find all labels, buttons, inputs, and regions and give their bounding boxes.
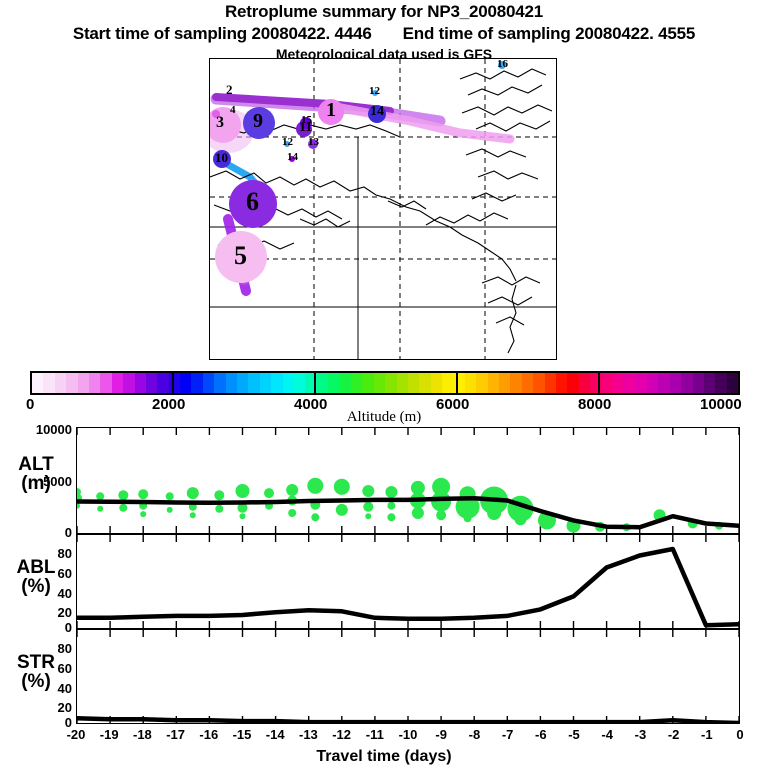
alt-bubble-12 — [187, 487, 199, 499]
colorbar-segment-45 — [545, 373, 556, 393]
colorbar-segment-61 — [727, 373, 738, 393]
alt-ytick-5000: 5000 — [12, 474, 72, 489]
colorbar-segment-10 — [146, 373, 157, 393]
alt-bubble-24 — [288, 509, 296, 517]
alt-bubble-6 — [119, 504, 127, 512]
alt-ytick-0: 0 — [12, 525, 72, 540]
x-tick--12: -12 — [327, 727, 357, 742]
altitude-colorbar[interactable] — [30, 371, 740, 395]
colorbar-segment-40 — [488, 373, 499, 393]
colorbar-segment-39 — [476, 373, 487, 393]
colorbar-segment-31 — [385, 373, 396, 393]
x-tick--1: -1 — [692, 727, 722, 742]
abl-ytick-0: 0 — [12, 620, 72, 635]
map-marker-label-4: 4 — [230, 105, 236, 116]
alt-bubble-31 — [363, 502, 373, 512]
alt-bubble-44 — [464, 514, 472, 522]
alt-bubble-27 — [311, 513, 319, 521]
colorbar-segment-29 — [362, 373, 373, 393]
alt-bubble-19 — [240, 513, 246, 519]
colorbar-segment-8 — [123, 373, 134, 393]
colorbar-segment-13 — [180, 373, 191, 393]
abl-panel[interactable] — [76, 534, 740, 629]
colorbar-segment-4 — [78, 373, 89, 393]
colorbar-segment-17 — [226, 373, 237, 393]
abl-ytick-20: 20 — [12, 605, 72, 620]
map-marker-label-3: 3 — [216, 115, 224, 131]
colorbar-segment-9 — [135, 373, 146, 393]
colorbar-segment-25 — [317, 373, 328, 393]
alt-bubble-40 — [431, 492, 451, 512]
str-panel[interactable] — [76, 629, 740, 724]
map-marker-label-14b: 14 — [370, 105, 384, 119]
colorbar-segment-33 — [408, 373, 419, 393]
colorbar-segment-38 — [465, 373, 476, 393]
colorbar-segment-54 — [647, 373, 658, 393]
alt-bubble-30 — [362, 485, 374, 497]
colorbar-segment-27 — [340, 373, 351, 393]
colorbar-segment-26 — [328, 373, 339, 393]
x-tick-0: 0 — [725, 727, 755, 742]
str-ytick-40: 40 — [12, 681, 72, 696]
alt-bubble-25 — [307, 478, 323, 494]
colorbar-segment-19 — [248, 373, 259, 393]
colorbar-segment-52 — [624, 373, 635, 393]
map-marker-label-2: 2 — [226, 83, 233, 96]
map-marker-label-5: 5 — [234, 243, 247, 269]
colorbar-axis-label: Altitude (m) — [0, 409, 768, 426]
x-tick--16: -16 — [194, 727, 224, 742]
x-tick--4: -4 — [592, 727, 622, 742]
x-tick--7: -7 — [493, 727, 523, 742]
colorbar-segment-44 — [533, 373, 544, 393]
alt-bubble-17 — [236, 484, 250, 498]
page-title: Retroplume summary for NP3_20080421 — [0, 2, 768, 22]
map-marker-label-14: 14 — [287, 152, 298, 163]
map-marker-group: 2 3 4 9 10 11 15 13 12 14 6 5 1 14 12 16 — [210, 59, 556, 359]
map-marker-label-10: 10 — [215, 151, 228, 164]
x-tick--19: -19 — [94, 727, 124, 742]
alt-bubble-11 — [167, 507, 173, 513]
abl-ytick-40: 40 — [12, 586, 72, 601]
str-tick-marks — [77, 630, 739, 723]
x-tick--9: -9 — [426, 727, 456, 742]
abl-trend-line — [77, 549, 739, 625]
alt-trend-line — [77, 498, 739, 527]
x-tick--10: -10 — [393, 727, 423, 742]
x-tick--6: -6 — [526, 727, 556, 742]
colorbar-segment-21 — [271, 373, 282, 393]
x-tick--14: -14 — [260, 727, 290, 742]
colorbar-divider — [598, 371, 600, 395]
colorbar-segment-0 — [32, 373, 43, 393]
colorbar-segment-1 — [43, 373, 54, 393]
str-ytick-80: 80 — [12, 641, 72, 656]
alt-bubble-33 — [385, 486, 397, 498]
alt-bubble-5 — [118, 490, 128, 500]
colorbar-segment-22 — [283, 373, 294, 393]
colorbar-segment-7 — [112, 373, 123, 393]
colorbar-segment-46 — [556, 373, 567, 393]
alt-bubble-32 — [365, 513, 371, 519]
colorbar-segment-57 — [681, 373, 692, 393]
colorbar-segment-34 — [419, 373, 430, 393]
colorbar-segment-59 — [704, 373, 715, 393]
colorbar-segment-53 — [636, 373, 647, 393]
alt-bubble-20 — [264, 488, 274, 498]
x-tick--8: -8 — [459, 727, 489, 742]
colorbar-segment-48 — [579, 373, 590, 393]
colorbar-segment-47 — [567, 373, 578, 393]
alt-bubble-16 — [215, 505, 223, 513]
alt-bubble-10 — [166, 492, 174, 500]
alt-panel[interactable] — [76, 427, 740, 534]
colorbar-segment-20 — [260, 373, 271, 393]
alt-bubble-4 — [97, 506, 103, 512]
end-time-label: End time of sampling 20080422. 4555 — [403, 24, 696, 43]
colorbar-segment-56 — [670, 373, 681, 393]
x-axis-title: Travel time (days) — [0, 748, 768, 766]
alt-plot — [77, 428, 739, 533]
colorbar-segment-12 — [169, 373, 180, 393]
alt-bubble-9 — [140, 511, 146, 517]
retroplume-map[interactable]: 2 3 4 9 10 11 15 13 12 14 6 5 1 14 12 16 — [209, 58, 557, 360]
colorbar-segment-35 — [431, 373, 442, 393]
colorbar-segment-60 — [715, 373, 726, 393]
colorbar-segment-50 — [602, 373, 613, 393]
map-marker-label-1: 1 — [326, 100, 336, 120]
colorbar-segment-15 — [203, 373, 214, 393]
alt-bubble-28 — [334, 479, 350, 495]
colorbar-segment-58 — [693, 373, 704, 393]
colorbar-segment-16 — [214, 373, 225, 393]
alt-ytick-10000: 10000 — [12, 422, 72, 437]
str-ytick-60: 60 — [12, 661, 72, 676]
alt-bubble-3 — [96, 492, 104, 500]
colorbar-segment-36 — [442, 373, 453, 393]
abl-plot — [77, 535, 739, 628]
x-tick--18: -18 — [127, 727, 157, 742]
alt-bubble-38 — [412, 507, 424, 519]
map-marker-label-12b: 12 — [369, 86, 380, 97]
alt-bubble-cloud — [77, 478, 723, 533]
x-tick--15: -15 — [227, 727, 257, 742]
colorbar-segment-30 — [374, 373, 385, 393]
alt-bubble-35 — [387, 513, 395, 521]
alt-bubble-34 — [387, 502, 395, 510]
colorbar-segment-42 — [510, 373, 521, 393]
sampling-time-row: Start time of sampling 20080422. 4446 En… — [0, 24, 768, 44]
map-marker-label-12: 12 — [282, 137, 293, 148]
colorbar-segment-55 — [658, 373, 669, 393]
colorbar-segment-5 — [89, 373, 100, 393]
colorbar-segment-41 — [499, 373, 510, 393]
x-tick--11: -11 — [360, 727, 390, 742]
colorbar-segment-11 — [157, 373, 168, 393]
map-marker-label-13: 13 — [308, 137, 319, 148]
colorbar-segment-14 — [191, 373, 202, 393]
colorbar-segment-18 — [237, 373, 248, 393]
alt-tick-marks — [77, 428, 739, 533]
alt-bubble-29 — [336, 504, 348, 516]
alt-bubble-14 — [190, 512, 196, 518]
colorbar-segment-6 — [100, 373, 111, 393]
colorbar-segment-23 — [294, 373, 305, 393]
alt-bubble-22 — [286, 484, 298, 496]
colorbar-segment-32 — [397, 373, 408, 393]
str-ytick-20: 20 — [12, 700, 72, 715]
x-tick--3: -3 — [625, 727, 655, 742]
x-tick--17: -17 — [161, 727, 191, 742]
abl-ytick-80: 80 — [12, 546, 72, 561]
alt-label-line1: ALT — [0, 455, 72, 474]
colorbar-segment-2 — [55, 373, 66, 393]
str-plot — [77, 630, 739, 723]
colorbar-divider — [314, 371, 316, 395]
map-marker-label-9: 9 — [253, 111, 263, 131]
x-tick--20: -20 — [61, 727, 91, 742]
x-tick--2: -2 — [659, 727, 689, 742]
colorbar-divider — [172, 371, 174, 395]
colorbar-segment-43 — [522, 373, 533, 393]
map-marker-label-6: 6 — [246, 189, 259, 215]
alt-bubble-46 — [487, 506, 501, 520]
start-time-label: Start time of sampling 20080422. 4446 — [73, 24, 372, 43]
alt-bubble-41 — [436, 510, 446, 520]
colorbar-segment-51 — [613, 373, 624, 393]
alt-bubble-15 — [214, 490, 224, 500]
abl-ytick-60: 60 — [12, 566, 72, 581]
map-marker-label-15: 15 — [301, 115, 312, 126]
colorbar-divider — [456, 371, 458, 395]
alt-bubble-7 — [138, 489, 148, 499]
alt-bubble-48 — [515, 513, 527, 525]
colorbar-segment-3 — [66, 373, 77, 393]
x-tick--5: -5 — [559, 727, 589, 742]
x-tick--13: -13 — [293, 727, 323, 742]
map-marker-label-16: 16 — [497, 59, 508, 70]
colorbar-segment-28 — [351, 373, 362, 393]
